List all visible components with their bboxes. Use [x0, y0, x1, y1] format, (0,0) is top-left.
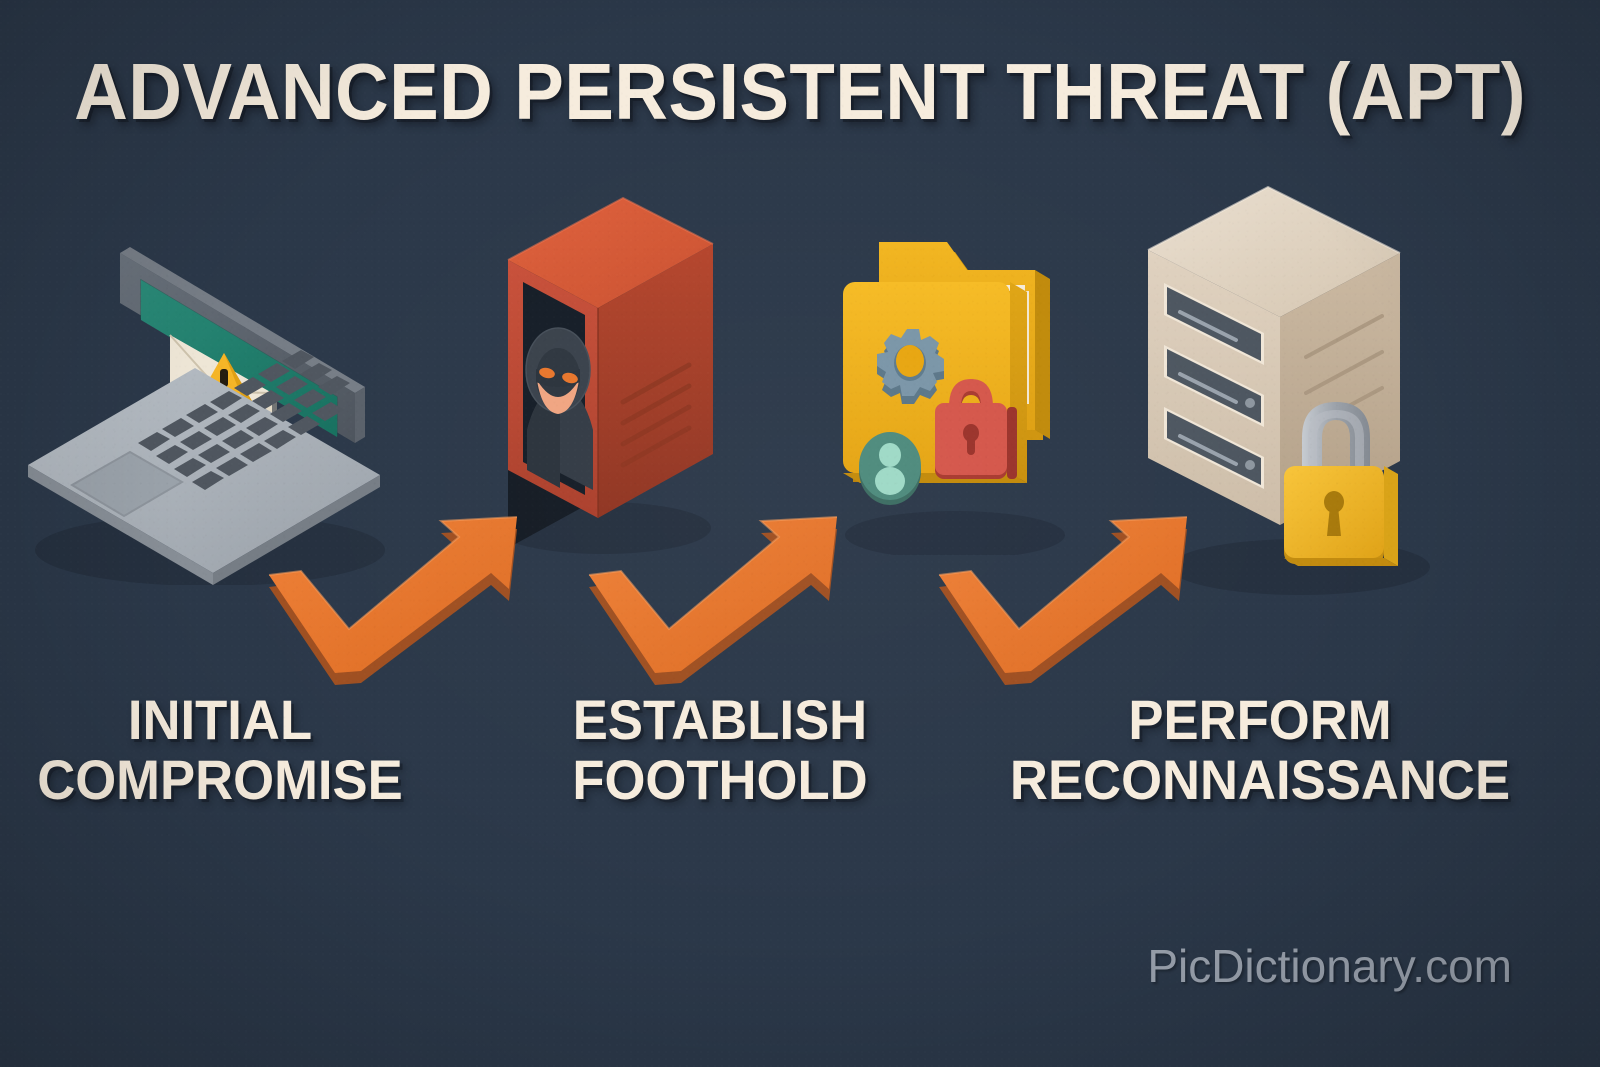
folder-gear-lock-user-icon: [805, 225, 1105, 555]
stage-label-establish-foothold: ESTABLISH FOOTHOLD: [485, 690, 955, 810]
arrow-svg: [935, 515, 1265, 685]
stage-label-line1: INITIAL: [128, 688, 312, 751]
stage-label-line2: COMPROMISE: [0, 750, 464, 810]
stage-label-initial-compromise: INITIAL COMPROMISE: [0, 690, 464, 810]
flow-arrow-1: [265, 515, 595, 685]
user-avatar-icon: [859, 432, 921, 505]
page-title: ADVANCED PERSISTENT THREAT (APT): [56, 48, 1544, 136]
folder-svg: [805, 225, 1105, 555]
stage-label-line1: ESTABLISH: [573, 688, 867, 751]
stage-label-line1: PERFORM: [1128, 688, 1391, 751]
stage-label-perform-reconnaissance: PERFORM RECONNAISSANCE: [950, 690, 1570, 810]
hacker-server-svg: [475, 180, 745, 560]
arrow-svg: [265, 515, 595, 685]
infographic-canvas: ADVANCED PERSISTENT THREAT (APT): [0, 0, 1600, 1067]
flow-arrow-2: [585, 515, 915, 685]
arrow-svg: [585, 515, 915, 685]
stage-label-line2: RECONNAISSANCE: [950, 750, 1570, 810]
gear-icon: [877, 329, 944, 404]
stage-label-line2: FOOTHOLD: [485, 750, 955, 810]
watermark: PicDictionary.com: [1147, 938, 1512, 994]
flow-arrow-3: [935, 515, 1265, 685]
hacker-in-server-icon: [475, 180, 745, 560]
